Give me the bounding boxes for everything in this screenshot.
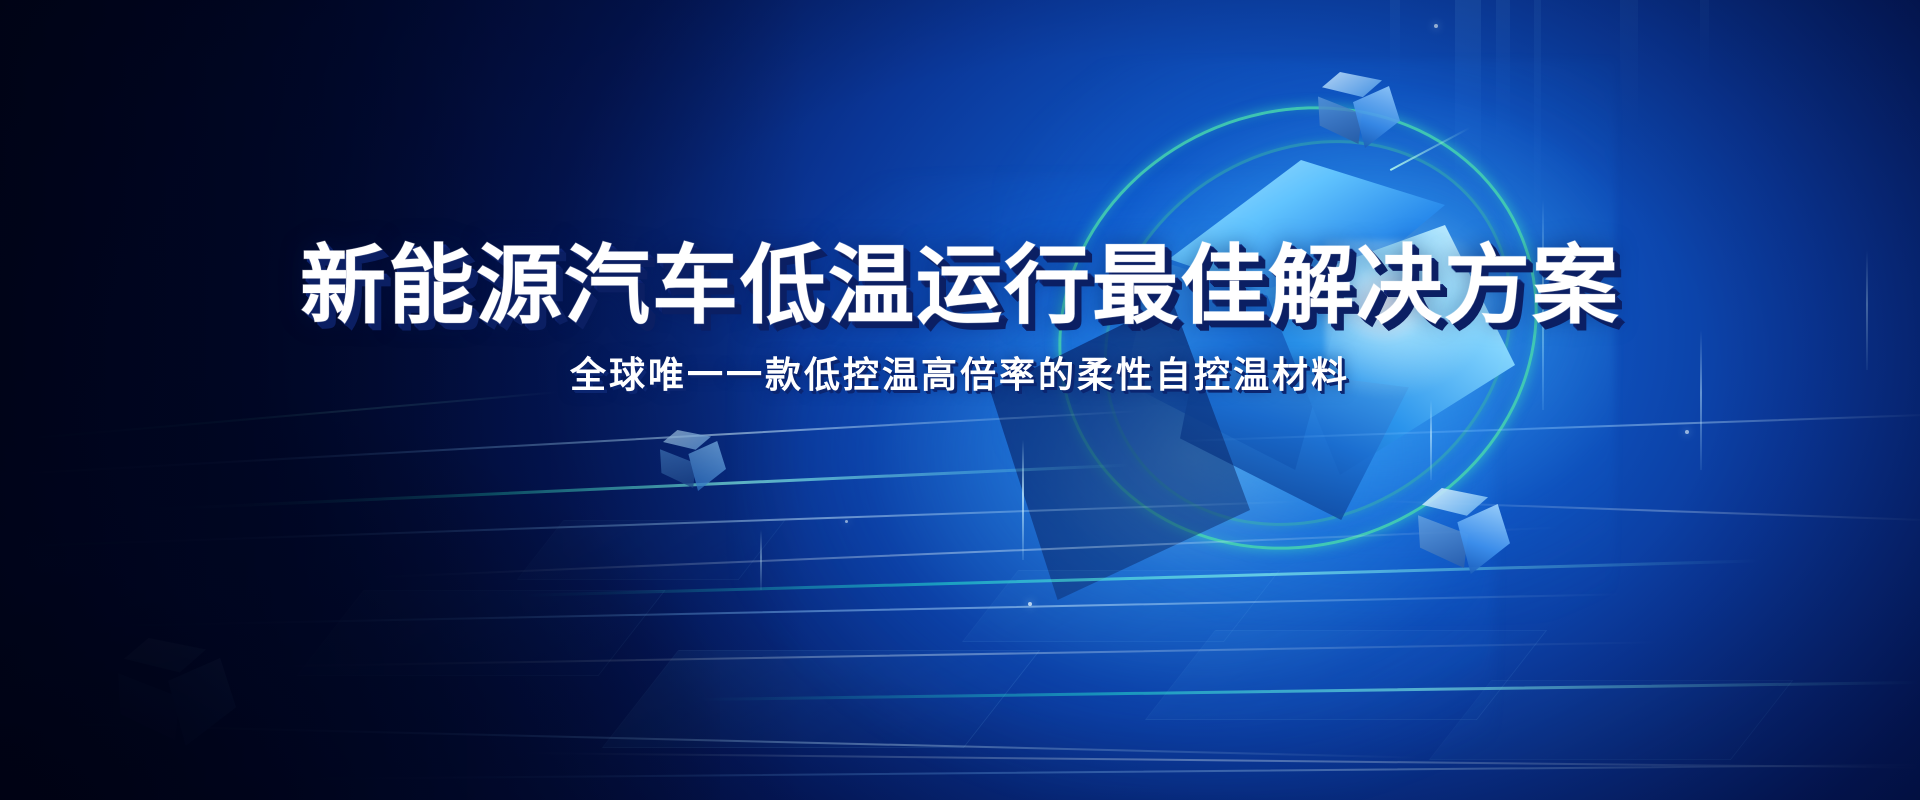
page-subtitle: 全球唯一一款低控温高倍率的柔性自控温材料 [0, 355, 1920, 395]
background-vignette [0, 0, 1920, 800]
hero-banner: 新能源汽车低温运行最佳解决方案 全球唯一一款低控温高倍率的柔性自控温材料 [0, 0, 1920, 800]
page-title: 新能源汽车低温运行最佳解决方案 [0, 243, 1920, 329]
hero-text-block: 新能源汽车低温运行最佳解决方案 全球唯一一款低控温高倍率的柔性自控温材料 [0, 243, 1920, 395]
